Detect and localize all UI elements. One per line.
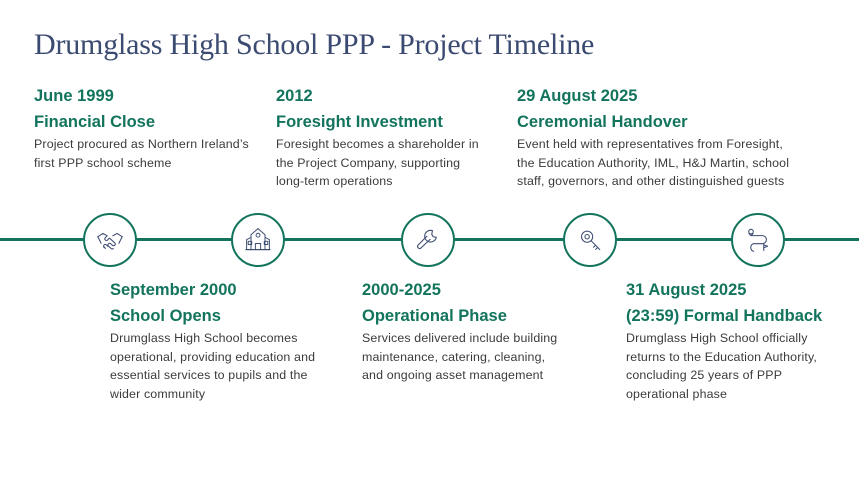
timeline-entry-2: 2012 Foresight Investment Foresight beco…	[276, 86, 481, 191]
timeline-entry-4: 29 August 2025 Ceremonial Handover Event…	[517, 86, 792, 191]
entry-heading: (23:59) Formal Handback	[626, 306, 841, 327]
entry-date: 31 August 2025	[626, 280, 841, 301]
timeline-entry-0: June 1999 Financial Close Project procur…	[34, 86, 249, 172]
timeline-entry-3: 2000-2025 Operational Phase Services del…	[362, 280, 567, 385]
entry-description: Drumglass High School officially returns…	[626, 329, 841, 403]
timeline-node-key[interactable]	[563, 213, 617, 267]
entry-date: 29 August 2025	[517, 86, 792, 107]
entry-description: Event held with representatives from For…	[517, 135, 792, 191]
timeline-node-school[interactable]	[231, 213, 285, 267]
timeline-node-wrench-operational[interactable]	[401, 213, 455, 267]
timeline-node-handshake[interactable]	[83, 213, 137, 267]
route-path-icon	[744, 226, 772, 254]
wrench-icon	[415, 227, 441, 253]
timeline-slide: Drumglass High School PPP - Project Time…	[0, 0, 859, 483]
entry-description: Foresight becomes a shareholder in the P…	[276, 135, 481, 191]
entry-date: June 1999	[34, 86, 249, 107]
handshake-icon	[95, 225, 125, 255]
timeline-entry-1: September 2000 School Opens Drumglass Hi…	[110, 280, 320, 403]
page-title: Drumglass High School PPP - Project Time…	[34, 28, 594, 62]
entry-date: 2000-2025	[362, 280, 567, 301]
entry-date: September 2000	[110, 280, 320, 301]
entry-description: Services delivered include building main…	[362, 329, 567, 385]
key-icon	[577, 227, 604, 254]
timeline-node-route[interactable]	[731, 213, 785, 267]
entry-date: 2012	[276, 86, 481, 107]
entry-heading: School Opens	[110, 306, 320, 327]
entry-heading: Ceremonial Handover	[517, 112, 792, 133]
entry-description: Drumglass High School becomes operationa…	[110, 329, 320, 403]
entry-heading: Foresight Investment	[276, 112, 481, 133]
entry-heading: Financial Close	[34, 112, 249, 133]
entry-heading: Operational Phase	[362, 306, 567, 327]
entry-description: Project procured as Northern Ireland’s f…	[34, 135, 249, 172]
school-building-icon	[244, 226, 272, 254]
timeline-entry-5: 31 August 2025 (23:59) Formal Handback D…	[626, 280, 841, 403]
